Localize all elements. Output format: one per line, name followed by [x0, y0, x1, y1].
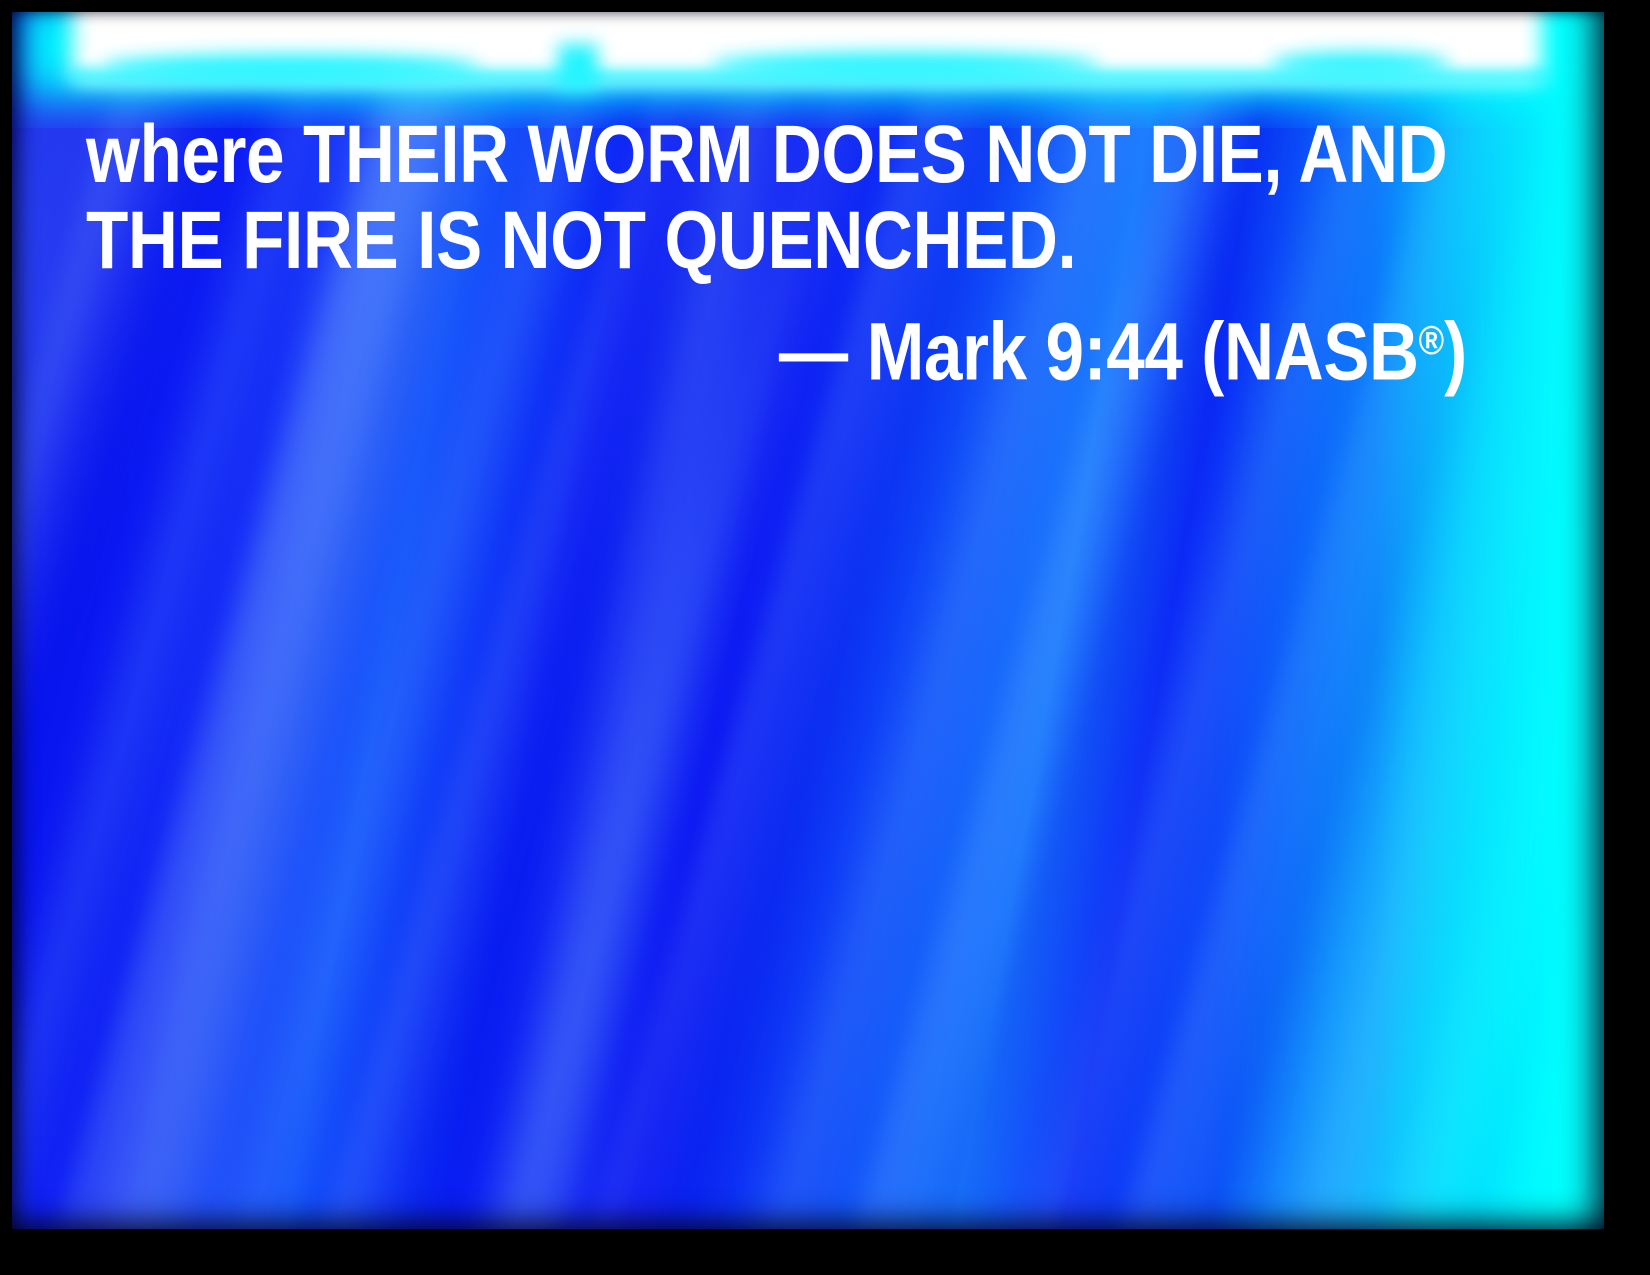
- frame-top-edge: [0, 0, 1650, 12]
- frame-left-edge: [0, 0, 12, 1275]
- attribution-closing-paren: ): [1444, 306, 1467, 397]
- attribution-em-dash: —: [779, 306, 848, 397]
- verse-line-1: where THEIR WORM DOES NOT DIE, AND: [86, 112, 1337, 198]
- frame-right-edge: [1604, 0, 1650, 1275]
- frame-bottom-edge: [0, 1229, 1650, 1275]
- verse-slide: where THEIR WORM DOES NOT DIE, AND THE F…: [0, 0, 1650, 1275]
- verse-line-2: THE FIRE IS NOT QUENCHED.: [86, 198, 1337, 284]
- registered-trademark-icon: ®: [1419, 317, 1445, 363]
- verse-text-block: where THEIR WORM DOES NOT DIE, AND THE F…: [86, 112, 1566, 398]
- attribution-reference: Mark 9:44 (NASB: [848, 306, 1419, 397]
- verse-attribution: — Mark 9:44 (NASB®): [86, 294, 1337, 398]
